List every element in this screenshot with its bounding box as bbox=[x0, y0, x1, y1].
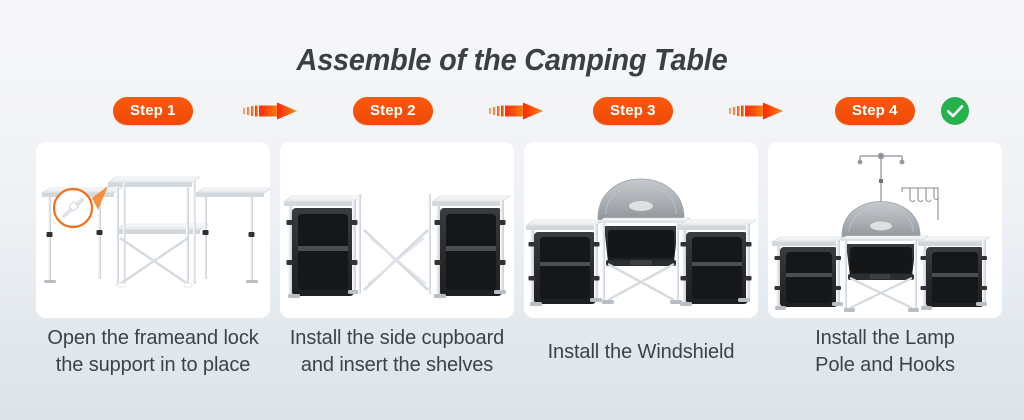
arrow-step2-to-step3-icon bbox=[483, 101, 547, 121]
arrow-step3-to-step4-icon bbox=[723, 101, 787, 121]
step-2-caption-line-1: Install the side cupboard bbox=[274, 325, 520, 352]
step-3-caption: Install the Windshield bbox=[518, 339, 764, 366]
step-2-caption: Install the side cupboard and insert the… bbox=[274, 325, 520, 379]
step-1-caption-line-1: Open the frameand lock bbox=[30, 325, 276, 352]
step-1-caption: Open the frameand lock the support in to… bbox=[30, 325, 276, 379]
step-4-caption-line-2: Pole and Hooks bbox=[762, 352, 1008, 379]
check-circle-icon bbox=[940, 96, 970, 126]
arrow-step1-to-step2-icon bbox=[237, 101, 301, 121]
step-4-illustration-card bbox=[768, 142, 1002, 318]
step-badge-1[interactable]: Step 1 bbox=[113, 97, 193, 125]
step-2-caption-line-2: and insert the shelves bbox=[274, 352, 520, 379]
step-badge-2[interactable]: Step 2 bbox=[353, 97, 433, 125]
step-1-caption-line-2: the support in to place bbox=[30, 352, 276, 379]
step-4-caption: Install the Lamp Pole and Hooks bbox=[762, 325, 1008, 379]
step-1-illustration-card bbox=[36, 142, 270, 318]
step-badge-3[interactable]: Step 3 bbox=[593, 97, 673, 125]
step-badge-4[interactable]: Step 4 bbox=[835, 97, 915, 125]
page-title: Assemble of the Camping Table bbox=[36, 0, 988, 75]
step-2-illustration-card bbox=[280, 142, 514, 318]
steps-header-row: Step 1 Step 2 bbox=[0, 97, 1024, 129]
step-4-caption-line-1: Install the Lamp bbox=[762, 325, 1008, 352]
step-3-illustration-card bbox=[524, 142, 758, 318]
step-3-caption-line-1: Install the Windshield bbox=[518, 339, 764, 366]
